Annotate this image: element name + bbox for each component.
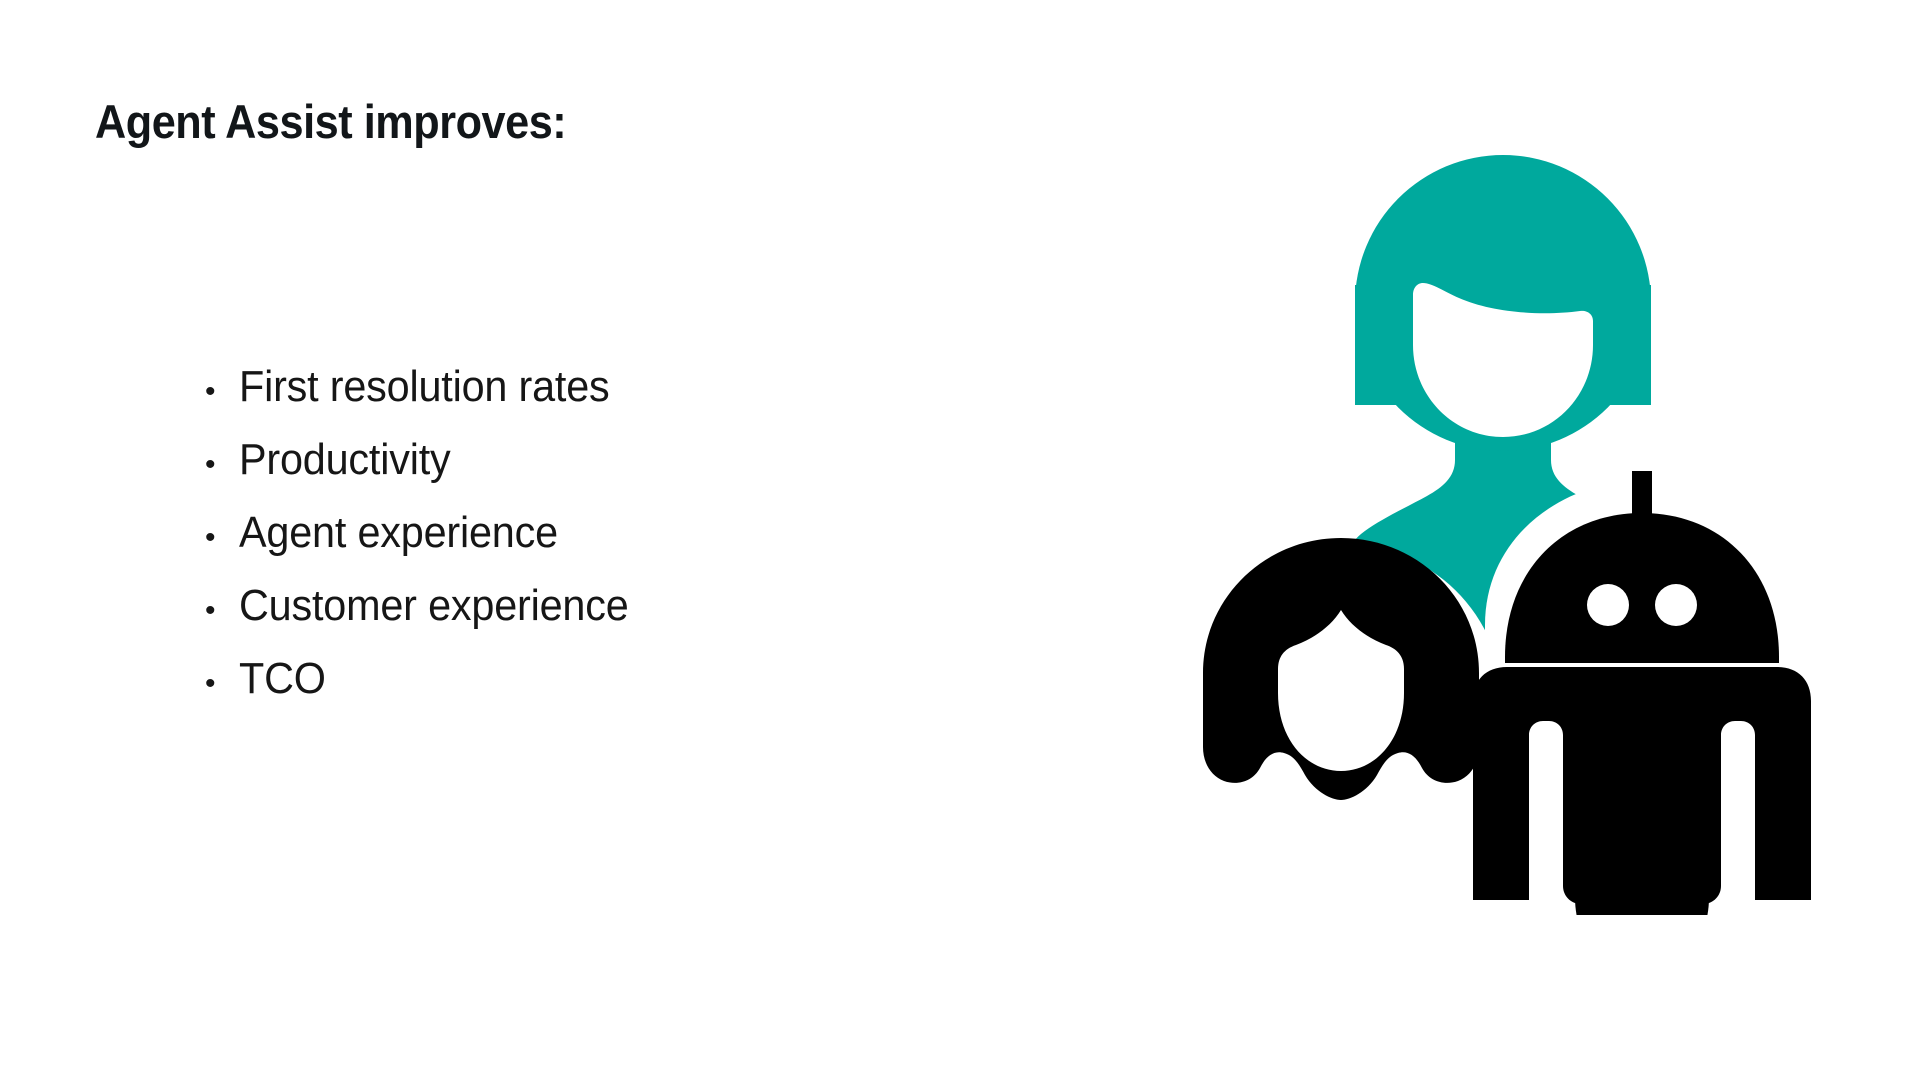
robot-base bbox=[1575, 855, 1709, 915]
list-item: • First resolution rates bbox=[205, 362, 653, 435]
list-item-label: Productivity bbox=[239, 435, 451, 485]
bullet-dot-icon: • bbox=[205, 523, 239, 553]
list-item-label: Agent experience bbox=[239, 508, 558, 558]
list-item-label: First resolution rates bbox=[239, 362, 610, 412]
list-item-label: TCO bbox=[239, 654, 326, 704]
bullet-dot-icon: • bbox=[205, 596, 239, 626]
slide-canvas: Agent Assist improves: • First resolutio… bbox=[0, 0, 1920, 1080]
list-item-label: Customer experience bbox=[239, 581, 629, 631]
bullet-dot-icon: • bbox=[205, 450, 239, 480]
benefits-list: • First resolution rates • Productivity … bbox=[205, 362, 653, 727]
page-title: Agent Assist improves: bbox=[95, 96, 566, 148]
robot-eye-right bbox=[1655, 584, 1697, 626]
robot-eye-left bbox=[1587, 584, 1629, 626]
list-item: • Productivity bbox=[205, 435, 653, 508]
agent-assist-illustration bbox=[1155, 155, 1875, 915]
bullet-dot-icon: • bbox=[205, 669, 239, 699]
black-robot-figure bbox=[1473, 471, 1811, 915]
list-item: • TCO bbox=[205, 654, 653, 727]
bullet-dot-icon: • bbox=[205, 377, 239, 407]
list-item: • Customer experience bbox=[205, 581, 653, 654]
list-item: • Agent experience bbox=[205, 508, 653, 581]
